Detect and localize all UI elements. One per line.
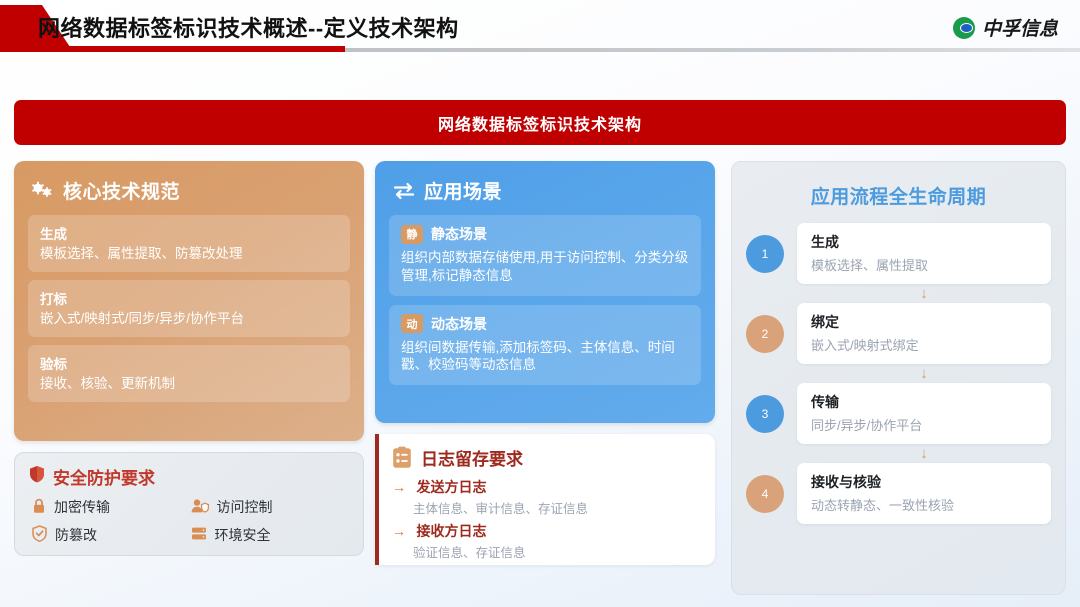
- security-item-label: 加密传输: [54, 497, 110, 517]
- core-spec-card: 核心技术规范 生成 模板选择、属性提取、防篡改处理 打标 嵌入式/映射式/同步/…: [14, 161, 364, 441]
- core-spec-item: 生成 模板选择、属性提取、防篡改处理: [28, 215, 350, 272]
- security-item: 加密传输: [32, 497, 191, 517]
- security-item-label: 防篡改: [55, 525, 97, 545]
- server-icon: [191, 526, 207, 544]
- logs-title: 日志留存要求: [421, 445, 523, 470]
- security-items: 加密传输 访问控制 防: [29, 497, 349, 545]
- lifecycle-step: 4 接收与核验 动态转静态、一致性核验: [746, 463, 1051, 524]
- core-spec-item: 验标 接收、核验、更新机制: [28, 345, 350, 402]
- security-item: 防篡改: [32, 525, 191, 545]
- security-title: 安全防护要求: [53, 464, 155, 489]
- scenario-item-desc: 组织间数据传输,添加标签码、主体信息、时间戳、校验码等动态信息: [401, 339, 689, 375]
- user-shield-icon: [191, 498, 209, 517]
- scenario-item-head: 静 静态场景: [401, 224, 689, 244]
- lifecycle-step: 3 传输 同步/异步/协作平台: [746, 383, 1051, 444]
- lifecycle-step-name: 生成: [811, 232, 1037, 252]
- lifecycle-step-number: 3: [746, 395, 784, 433]
- log-item-desc: 验证信息、存证信息: [413, 542, 701, 561]
- lifecycle-step-desc: 动态转静态、一致性核验: [811, 495, 1037, 514]
- log-item: → 发送方日志 主体信息、审计信息、存证信息: [392, 477, 701, 517]
- company-circle-logo-icon: [953, 17, 975, 39]
- lifecycle-step-name: 传输: [811, 392, 1037, 412]
- scenario-badge: 静: [401, 225, 423, 244]
- lifecycle-step: 1 生成 模板选择、属性提取: [746, 223, 1051, 284]
- lifecycle-step-number: 1: [746, 235, 784, 273]
- security-item: 环境安全: [191, 525, 350, 545]
- arrow-down-icon: ↓: [797, 286, 1051, 301]
- header-rule-red: [0, 46, 345, 52]
- scenario-item-head: 动 动态场景: [401, 314, 689, 334]
- architecture-banner: 网络数据标签标识技术架构: [14, 100, 1066, 145]
- scenarios-header: 应用场景: [393, 177, 701, 204]
- middle-column: 应用场景 静 静态场景 组织内部数据存储使用,用于访问控制、分类分级管理,标记静…: [375, 161, 715, 565]
- scenario-item: 静 静态场景 组织内部数据存储使用,用于访问控制、分类分级管理,标记静态信息: [389, 215, 701, 296]
- core-spec-item-desc: 嵌入式/映射式/同步/异步/协作平台: [40, 311, 338, 328]
- core-spec-title: 核心技术规范: [63, 177, 180, 204]
- security-item-label: 环境安全: [215, 525, 271, 545]
- shield-check-icon: [32, 525, 47, 545]
- log-item-desc: 主体信息、审计信息、存证信息: [413, 498, 701, 517]
- clipboard-list-icon: [392, 446, 412, 469]
- lifecycle-step-box: 绑定 嵌入式/映射式绑定: [797, 303, 1051, 364]
- log-item: → 接收方日志 验证信息、存证信息: [392, 521, 701, 561]
- banner-title: 网络数据标签标识技术架构: [438, 111, 642, 135]
- arrow-down-icon: ↓: [797, 446, 1051, 461]
- lifecycle-step-number: 2: [746, 315, 784, 353]
- lifecycle-step-desc: 嵌入式/映射式绑定: [811, 335, 1037, 354]
- swap-arrows-icon: [393, 182, 415, 200]
- page-header: 网络数据标签标识技术概述--定义技术架构 中孚信息: [0, 0, 1080, 58]
- security-header: 安全防护要求: [29, 464, 349, 489]
- core-spec-item-desc: 模板选择、属性提取、防篡改处理: [40, 246, 338, 263]
- core-spec-item-name: 打标: [40, 288, 338, 308]
- header-rule-gray: [345, 48, 1080, 52]
- lifecycle-step-desc: 同步/异步/协作平台: [811, 415, 1037, 434]
- core-spec-item: 打标 嵌入式/映射式/同步/异步/协作平台: [28, 280, 350, 337]
- lifecycle-step-box: 生成 模板选择、属性提取: [797, 223, 1051, 284]
- scenario-badge: 动: [401, 314, 423, 333]
- lifecycle-title: 应用流程全生命周期: [746, 182, 1051, 209]
- core-spec-header: 核心技术规范: [32, 177, 350, 204]
- lock-icon: [32, 498, 46, 517]
- security-item-label: 访问控制: [217, 497, 273, 517]
- scenario-item-name: 动态场景: [431, 314, 487, 334]
- lifecycle-step-box: 接收与核验 动态转静态、一致性核验: [797, 463, 1051, 524]
- arrow-down-icon: ↓: [797, 366, 1051, 381]
- core-spec-item-desc: 接收、核验、更新机制: [40, 376, 338, 393]
- scenarios-card: 应用场景 静 静态场景 组织内部数据存储使用,用于访问控制、分类分级管理,标记静…: [375, 161, 715, 423]
- logs-header: 日志留存要求: [392, 445, 701, 470]
- company-logo: 中孚信息: [953, 14, 1058, 41]
- lifecycle-step-number: 4: [746, 475, 784, 513]
- arrow-right-icon: →: [392, 479, 406, 495]
- scenarios-title: 应用场景: [424, 177, 502, 204]
- scenario-item-name: 静态场景: [431, 224, 487, 244]
- lifecycle-step-name: 绑定: [811, 312, 1037, 332]
- security-card: 安全防护要求 加密传输: [14, 452, 364, 556]
- page-title: 网络数据标签标识技术概述--定义技术架构: [38, 11, 459, 43]
- lifecycle-step: 2 绑定 嵌入式/映射式绑定: [746, 303, 1051, 364]
- left-column: 核心技术规范 生成 模板选择、属性提取、防篡改处理 打标 嵌入式/映射式/同步/…: [14, 161, 364, 556]
- arrow-right-icon: →: [392, 523, 406, 539]
- shield-icon: [29, 465, 45, 488]
- scenario-item: 动 动态场景 组织间数据传输,添加标签码、主体信息、时间戳、校验码等动态信息: [389, 305, 701, 386]
- security-item: 访问控制: [191, 497, 350, 517]
- lifecycle-step-name: 接收与核验: [811, 472, 1037, 492]
- scenario-item-desc: 组织内部数据存储使用,用于访问控制、分类分级管理,标记静态信息: [401, 249, 689, 285]
- log-item-name: 发送方日志: [416, 479, 486, 495]
- lifecycle-step-box: 传输 同步/异步/协作平台: [797, 383, 1051, 444]
- core-spec-item-name: 生成: [40, 223, 338, 243]
- lifecycle-card: 应用流程全生命周期 1 生成 模板选择、属性提取 ↓ 2 绑定 嵌入式/映射式绑…: [731, 161, 1066, 595]
- logs-card: 日志留存要求 → 发送方日志 主体信息、审计信息、存证信息 → 接收方日志 验证…: [375, 434, 715, 565]
- gears-icon: [32, 181, 54, 201]
- company-logo-text: 中孚信息: [982, 14, 1058, 41]
- log-item-name: 接收方日志: [416, 523, 486, 539]
- core-spec-item-name: 验标: [40, 353, 338, 373]
- right-column: 应用流程全生命周期 1 生成 模板选择、属性提取 ↓ 2 绑定 嵌入式/映射式绑…: [731, 161, 1066, 595]
- lifecycle-step-desc: 模板选择、属性提取: [811, 255, 1037, 274]
